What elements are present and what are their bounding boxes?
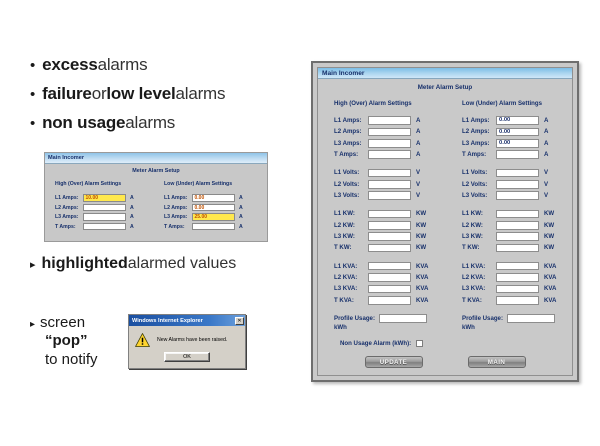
alarm-field-row: T KW:KW <box>334 243 444 252</box>
low-amps-group: L1 Amps:0.00AL2 Amps:0.00AL3 Amps:0.00AT… <box>462 116 572 159</box>
high-alarm-heading: High (Over) Alarm Settings <box>334 100 444 107</box>
alarm-field-label: L3 KW: <box>462 233 496 240</box>
alarm-field-input[interactable] <box>368 128 411 137</box>
low-alarm-column: Low (Under) Alarm Settings L1 Amps:0.00A… <box>462 100 572 338</box>
low-profile-usage-label: Profile Usage: <box>462 315 503 322</box>
alarm-field-label: L3 Amps: <box>334 140 368 147</box>
alarm-field-label: T KVA: <box>462 297 496 304</box>
alarm-field-label: L2 KVA: <box>334 274 368 281</box>
alarm-field-row: T KW:KW <box>462 243 572 252</box>
alarm-field-row: L2 Volts:V <box>462 180 572 189</box>
alarm-field-row: T Amps:A <box>55 223 151 231</box>
alarm-field-input[interactable] <box>496 150 539 159</box>
alarm-field-unit: A <box>544 151 548 158</box>
alarm-field-input[interactable] <box>496 296 539 305</box>
small-panel-high-column: High (Over) Alarm Settings L1 Amps:10.00… <box>55 181 151 232</box>
alarm-field-input[interactable] <box>496 221 539 230</box>
alarm-field-unit: A <box>416 140 420 147</box>
alarm-field-input[interactable] <box>368 232 411 241</box>
high-volts-group: L1 Volts:VL2 Volts:VL3 Volts:V <box>334 168 444 200</box>
alarm-field-unit: KVA <box>416 285 428 292</box>
small-panel-subtitle: Meter Alarm Setup <box>45 164 267 174</box>
alarm-field-input[interactable] <box>83 223 126 231</box>
alarm-field-label: T Amps: <box>462 151 496 158</box>
alarm-field-row: L2 Amps:0.00A <box>164 204 260 212</box>
alarm-field-label: L3 KVA: <box>462 285 496 292</box>
alarm-field-row: T Amps:A <box>164 223 260 231</box>
alarm-field-row: L3 Amps:25.00A <box>164 213 260 221</box>
alarm-field-row: L3 KVA:KVA <box>462 284 572 293</box>
alarm-field-label: L1 KW: <box>334 210 368 217</box>
alarm-field-unit: KVA <box>416 263 428 270</box>
bullet-strong-text: non usage <box>42 113 125 133</box>
bullet-rest-text: alarms <box>98 55 148 75</box>
alarm-field-unit: A <box>130 214 134 220</box>
main-panel-columns: High (Over) Alarm Settings L1 Amps:AL2 A… <box>318 91 572 338</box>
alarm-field-row: L3 Volts:V <box>462 191 572 200</box>
alarm-field-unit: KW <box>544 210 554 217</box>
alarm-field-input[interactable] <box>496 285 539 294</box>
alarm-field-row: L3 Amps:0.00A <box>462 139 572 148</box>
update-button[interactable]: UPDATE <box>365 356 423 368</box>
low-kw-group: L1 KW:KWL2 KW:KWL3 KW:KWT KW:KW <box>462 209 572 252</box>
alarm-field-row: L1 KVA:KVA <box>334 262 444 271</box>
alarm-field-unit: A <box>416 151 420 158</box>
alarm-field-row: L1 KVA:KVA <box>462 262 572 271</box>
alarm-field-input[interactable] <box>496 180 539 189</box>
callout-screen-line1: screen <box>40 314 85 332</box>
callout-screen-pop: ▸ screen “pop” to notify <box>30 314 125 369</box>
alarm-field-label: T Amps: <box>55 224 83 230</box>
high-alarm-column: High (Over) Alarm Settings L1 Amps:AL2 A… <box>334 100 444 338</box>
alarm-field-input[interactable]: 0.00 <box>496 128 539 137</box>
small-panel-high-fields: L1 Amps:10.00AL2 Amps:AL3 Amps:AT Amps:A <box>55 194 151 231</box>
alarm-field-unit: A <box>544 140 548 147</box>
triangle-bullet-icon: ▸ <box>30 319 35 331</box>
high-profile-usage-unit: kWh <box>334 324 444 331</box>
main-button[interactable]: MAIN <box>468 356 526 368</box>
alarm-field-row: L1 KW:KW <box>334 209 444 218</box>
alarm-field-label: L1 Volts: <box>334 169 368 176</box>
alarm-field-input[interactable] <box>83 204 126 212</box>
ie-dialog-message: New Alarms have been raised. <box>157 337 227 343</box>
alarm-field-unit: A <box>239 214 243 220</box>
bullet-dot-icon: • <box>30 116 35 131</box>
list-item: • non usage alarms <box>30 113 320 133</box>
non-usage-alarm-label: Non Usage Alarm (kWh): <box>340 340 411 347</box>
alarm-field-label: L2 KVA: <box>462 274 496 281</box>
alarm-field-label: L1 Amps: <box>55 195 83 201</box>
alarm-field-unit: V <box>544 181 548 188</box>
alarm-field-unit: A <box>130 224 134 230</box>
alarm-field-input[interactable] <box>496 262 539 271</box>
alarm-field-label: L3 Amps: <box>462 140 496 147</box>
ie-dialog-titlebar: Windows Internet Explorer ✕ <box>129 315 245 326</box>
callout-highlighted-rest: alarmed values <box>128 255 237 273</box>
alarm-field-input[interactable] <box>496 232 539 241</box>
small-meter-alarm-panel: Main Incomer Meter Alarm Setup High (Ove… <box>44 152 268 242</box>
alarm-field-unit: KW <box>544 244 554 251</box>
low-alarm-heading: Low (Under) Alarm Settings <box>462 100 572 107</box>
alarm-field-label: L2 Volts: <box>334 181 368 188</box>
alarm-field-input[interactable] <box>368 210 411 219</box>
bullet-list: • excess alarms • failure or low level a… <box>30 55 320 142</box>
alarm-field-unit: KVA <box>544 263 556 270</box>
triangle-bullet-icon: ▸ <box>30 258 36 271</box>
bullet-strong-text: failure <box>42 84 92 104</box>
alarm-field-row: L2 Volts:V <box>334 180 444 189</box>
alarm-field-input[interactable]: 0.00 <box>496 116 539 125</box>
alarm-field-input[interactable] <box>368 262 411 271</box>
alarm-field-unit: A <box>130 195 134 201</box>
alarm-field-unit: KW <box>544 233 554 240</box>
alarm-field-unit: A <box>130 205 134 211</box>
alarm-field-label: L3 Amps: <box>55 214 83 220</box>
alarm-field-unit: KW <box>416 210 426 217</box>
bullet-strong-text-2: low level <box>106 84 175 104</box>
main-panel-subtitle: Meter Alarm Setup <box>318 79 572 91</box>
alarm-field-label: L1 Amps: <box>334 117 368 124</box>
alarm-field-label: T Amps: <box>164 224 192 230</box>
alarm-field-unit: A <box>239 205 243 211</box>
alarm-field-input[interactable] <box>83 213 126 221</box>
alarm-field-unit: V <box>416 181 420 188</box>
alarm-field-label: L2 KW: <box>462 222 496 229</box>
alarm-field-label: L1 KW: <box>462 210 496 217</box>
alarm-field-row: L3 KVA:KVA <box>334 284 444 293</box>
callout-highlighted: ▸ highlighted alarmed values <box>30 255 236 273</box>
alarm-field-input[interactable]: 0.00 <box>192 204 235 212</box>
alarm-field-row: L2 KVA:KVA <box>334 273 444 282</box>
alarm-field-row: L3 Amps:A <box>55 213 151 221</box>
small-panel-low-column: Low (Under) Alarm Settings L1 Amps:0.00A… <box>164 181 260 232</box>
low-profile-usage: Profile Usage: kWh <box>462 314 572 331</box>
alarm-field-row: L3 KW:KW <box>462 232 572 241</box>
main-panel-titlebar: Main Incomer <box>318 68 572 79</box>
alarm-field-label: L3 KW: <box>334 233 368 240</box>
small-panel-high-heading: High (Over) Alarm Settings <box>55 181 151 187</box>
alarm-field-row: L2 KVA:KVA <box>462 273 572 282</box>
alarm-field-label: L2 KW: <box>334 222 368 229</box>
alarm-field-row: T Amps:A <box>462 150 572 159</box>
alarm-field-label: L3 KVA: <box>334 285 368 292</box>
alarm-field-unit: A <box>239 195 243 201</box>
alarm-field-unit: V <box>416 169 420 176</box>
low-kva-group: L1 KVA:KVAL2 KVA:KVAL3 KVA:KVAT KVA:KVA <box>462 262 572 305</box>
high-kva-group: L1 KVA:KVAL2 KVA:KVAL3 KVA:KVAT KVA:KVA <box>334 262 444 305</box>
alarm-field-unit: A <box>544 117 548 124</box>
high-amps-group: L1 Amps:AL2 Amps:AL3 Amps:AT Amps:A <box>334 116 444 159</box>
alarm-field-row: L1 Amps:10.00A <box>55 194 151 202</box>
internet-explorer-alert-dialog: Windows Internet Explorer ✕ New Alarms h… <box>128 314 246 369</box>
alarm-field-row: L2 Amps:0.00A <box>462 127 572 136</box>
alarm-field-unit: KW <box>416 244 426 251</box>
alarm-field-row: L1 KW:KW <box>462 209 572 218</box>
small-panel-title: Main Incomer <box>48 155 84 161</box>
alarm-field-unit: V <box>544 192 548 199</box>
alarm-field-label: T KW: <box>334 244 368 251</box>
ie-dialog-footer: OK <box>129 352 245 368</box>
alarm-field-row: L2 Amps:A <box>334 127 444 136</box>
alarm-field-input[interactable] <box>496 210 539 219</box>
alarm-field-row: L2 Amps:A <box>55 204 151 212</box>
alarm-field-input[interactable] <box>368 139 411 148</box>
bullet-strong-text: excess <box>42 55 98 75</box>
small-panel-low-heading: Low (Under) Alarm Settings <box>164 181 260 187</box>
alarm-field-label: L2 Amps: <box>334 128 368 135</box>
alarm-field-label: L1 Amps: <box>462 117 496 124</box>
alarm-field-unit: KW <box>416 222 426 229</box>
list-item: • failure or low level alarms <box>30 84 320 104</box>
callout-screen-line3: to notify <box>30 351 125 369</box>
high-kw-group: L1 KW:KWL2 KW:KWL3 KW:KWT KW:KW <box>334 209 444 252</box>
bullet-rest-text: or <box>92 84 107 104</box>
small-panel-low-fields: L1 Amps:0.00AL2 Amps:0.00AL3 Amps:25.00A… <box>164 194 260 231</box>
alarm-field-row: T Amps:A <box>334 150 444 159</box>
alarm-field-row: T KVA:KVA <box>334 296 444 305</box>
list-item: • excess alarms <box>30 55 320 75</box>
high-profile-usage: Profile Usage: kWh <box>334 314 444 331</box>
alarm-field-input[interactable] <box>368 244 411 253</box>
alarm-field-input[interactable] <box>368 296 411 305</box>
alarm-field-label: L2 Amps: <box>164 205 192 211</box>
main-panel-title: Main Incomer <box>322 70 365 77</box>
alarm-field-input[interactable] <box>496 191 539 200</box>
alarm-field-input[interactable] <box>368 285 411 294</box>
alarm-field-label: T KW: <box>462 244 496 251</box>
alarm-field-row: L2 KW:KW <box>334 221 444 230</box>
alarm-field-unit: A <box>416 117 420 124</box>
alarm-field-input[interactable] <box>496 244 539 253</box>
alarm-field-row: L1 Amps:0.00A <box>462 116 572 125</box>
alarm-field-unit: V <box>416 192 420 199</box>
callout-highlighted-strong: highlighted <box>42 255 128 273</box>
meter-alarm-setup-window: Main Incomer Meter Alarm Setup High (Ove… <box>311 61 579 382</box>
low-profile-usage-unit: kWh <box>462 324 572 331</box>
alarm-field-input[interactable] <box>496 169 539 178</box>
alarm-field-input-highlighted[interactable]: 25.00 <box>192 213 235 221</box>
high-profile-usage-input[interactable] <box>379 314 427 323</box>
bullet-dot-icon: • <box>30 87 35 102</box>
alarm-field-label: L1 Volts: <box>462 169 496 176</box>
main-panel-buttons: UPDATE MAIN <box>318 347 572 375</box>
alarm-field-label: L1 Amps: <box>164 195 192 201</box>
main-panel-inner: Main Incomer Meter Alarm Setup High (Ove… <box>317 67 573 376</box>
alarm-field-unit: A <box>416 128 420 135</box>
alarm-field-unit: A <box>544 128 548 135</box>
bullet-rest-text: alarms <box>125 113 175 133</box>
alarm-field-input[interactable]: 0.00 <box>192 194 235 202</box>
alarm-field-unit: A <box>239 224 243 230</box>
alarm-field-unit: KVA <box>416 274 428 281</box>
ie-dialog-body: New Alarms have been raised. <box>129 326 245 352</box>
alarm-field-unit: KVA <box>416 297 428 304</box>
alarm-field-label: T KVA: <box>334 297 368 304</box>
alarm-field-label: L3 Volts: <box>334 192 368 199</box>
alarm-field-unit: KVA <box>544 274 556 281</box>
non-usage-alarm-checkbox[interactable] <box>416 340 423 347</box>
ok-button[interactable]: OK <box>164 352 210 362</box>
alarm-field-label: L2 Amps: <box>55 205 83 211</box>
alarm-field-input[interactable] <box>496 273 539 282</box>
alarm-field-unit: KVA <box>544 285 556 292</box>
alarm-field-row: L1 Volts:V <box>334 168 444 177</box>
close-icon[interactable]: ✕ <box>235 317 244 325</box>
callout-screen-line2: “pop” <box>30 332 125 350</box>
alarm-field-row: L1 Amps:A <box>334 116 444 125</box>
alarm-field-unit: KW <box>416 233 426 240</box>
low-volts-group: L1 Volts:VL2 Volts:VL3 Volts:V <box>462 168 572 200</box>
alarm-field-input[interactable] <box>368 221 411 230</box>
alarm-field-input[interactable] <box>368 191 411 200</box>
alarm-field-unit: KW <box>544 222 554 229</box>
alarm-field-input[interactable] <box>192 223 235 231</box>
alarm-field-row: L3 KW:KW <box>334 232 444 241</box>
alarm-field-row: T KVA:KVA <box>462 296 572 305</box>
low-profile-usage-input[interactable] <box>507 314 555 323</box>
alarm-field-label: L1 KVA: <box>462 263 496 270</box>
alarm-field-label: T Amps: <box>334 151 368 158</box>
bullet-dot-icon: • <box>30 58 35 73</box>
warning-triangle-icon <box>135 333 150 347</box>
alarm-field-row: L1 Volts:V <box>462 168 572 177</box>
small-panel-columns: High (Over) Alarm Settings L1 Amps:10.00… <box>45 174 267 232</box>
alarm-field-input[interactable] <box>368 116 411 125</box>
alarm-field-label: L2 Amps: <box>462 128 496 135</box>
small-panel-body: Meter Alarm Setup High (Over) Alarm Sett… <box>45 164 267 240</box>
alarm-field-row: L2 KW:KW <box>462 221 572 230</box>
alarm-field-input[interactable] <box>368 150 411 159</box>
non-usage-alarm-row: Non Usage Alarm (kWh): <box>318 338 572 347</box>
alarm-field-input[interactable] <box>368 169 411 178</box>
alarm-field-input[interactable]: 0.00 <box>496 139 539 148</box>
alarm-field-input-highlighted[interactable]: 10.00 <box>83 194 126 202</box>
alarm-field-unit: KVA <box>544 297 556 304</box>
alarm-field-label: L3 Volts: <box>462 192 496 199</box>
alarm-field-label: L3 Amps: <box>164 214 192 220</box>
alarm-field-input[interactable] <box>368 273 411 282</box>
ie-dialog-title: Windows Internet Explorer <box>132 318 203 324</box>
alarm-field-input[interactable] <box>368 180 411 189</box>
high-profile-usage-label: Profile Usage: <box>334 315 375 322</box>
alarm-field-label: L2 Volts: <box>462 181 496 188</box>
alarm-field-row: L1 Amps:0.00A <box>164 194 260 202</box>
alarm-field-unit: V <box>544 169 548 176</box>
alarm-field-row: L3 Volts:V <box>334 191 444 200</box>
alarm-field-label: L1 KVA: <box>334 263 368 270</box>
bullet-rest-text-2: alarms <box>175 84 225 104</box>
alarm-field-row: L3 Amps:A <box>334 139 444 148</box>
small-panel-titlebar: Main Incomer <box>45 153 267 164</box>
